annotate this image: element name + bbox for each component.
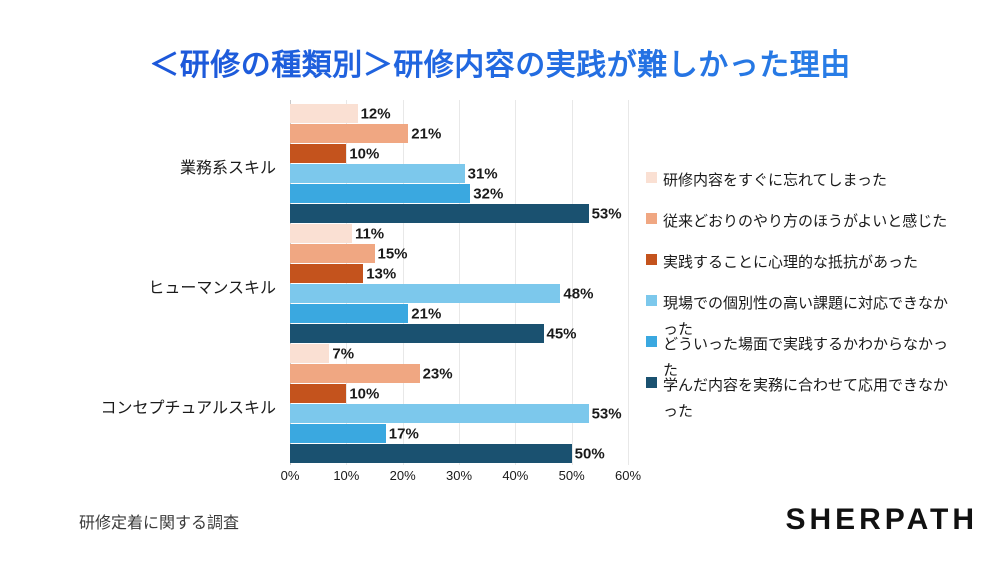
bar-value-label: 48% bbox=[560, 285, 593, 302]
bar-value-label: 23% bbox=[420, 365, 453, 382]
bar-row: 48% bbox=[290, 284, 628, 303]
footnote: 研修定着に関する調査 bbox=[79, 509, 239, 533]
bar-value-label: 13% bbox=[363, 265, 396, 282]
bar-row: 10% bbox=[290, 144, 628, 163]
bar-segment[interactable] bbox=[290, 384, 346, 403]
category-label: ヒューマンスキル bbox=[148, 274, 276, 298]
bar-value-label: 21% bbox=[408, 305, 441, 322]
brand-logo: SHERPATH bbox=[785, 503, 978, 537]
bar-value-label: 7% bbox=[329, 345, 354, 362]
x-axis-tick: 30% bbox=[446, 468, 472, 483]
bar-value-label: 45% bbox=[544, 325, 577, 342]
legend-swatch-icon bbox=[646, 213, 657, 224]
bar-value-label: 53% bbox=[589, 405, 622, 422]
bar-segment[interactable] bbox=[290, 184, 470, 203]
legend-swatch-icon bbox=[646, 336, 657, 347]
bar-segment[interactable] bbox=[290, 424, 386, 443]
bar-row: 53% bbox=[290, 204, 628, 223]
x-axis-tick: 10% bbox=[333, 468, 359, 483]
bar-segment[interactable] bbox=[290, 284, 560, 303]
bar-value-label: 21% bbox=[408, 125, 441, 142]
bar-row: 11% bbox=[290, 224, 628, 243]
gridline-60 bbox=[628, 100, 629, 465]
bar-value-label: 11% bbox=[352, 225, 384, 242]
bar-row: 12% bbox=[290, 104, 628, 123]
bar-row: 32% bbox=[290, 184, 628, 203]
legend-swatch-icon bbox=[646, 295, 657, 306]
category-label: 業務系スキル bbox=[180, 154, 276, 178]
bar-segment[interactable] bbox=[290, 144, 346, 163]
bar-row: 45% bbox=[290, 324, 628, 343]
bar-value-label: 10% bbox=[346, 385, 379, 402]
bar-value-label: 12% bbox=[358, 105, 391, 122]
bar-segment[interactable] bbox=[290, 324, 544, 343]
x-axis: 0%10%20%30%40%50%60% bbox=[290, 468, 628, 488]
legend-label: 研修内容をすぐに忘れてしまった bbox=[663, 168, 953, 194]
bar-row: 10% bbox=[290, 384, 628, 403]
bar-value-label: 10% bbox=[346, 145, 379, 162]
bar-row: 21% bbox=[290, 124, 628, 143]
bar-value-label: 31% bbox=[465, 165, 498, 182]
bar-segment[interactable] bbox=[290, 444, 572, 463]
bar-group: 11%15%13%48%21%45% bbox=[290, 224, 628, 344]
x-axis-tick: 50% bbox=[559, 468, 585, 483]
bar-segment[interactable] bbox=[290, 304, 408, 323]
chart-plot-area: 12%21%10%31%32%53%11%15%13%48%21%45%7%23… bbox=[290, 100, 628, 465]
legend-swatch-icon bbox=[646, 172, 657, 183]
bar-segment[interactable] bbox=[290, 344, 329, 363]
bar-segment[interactable] bbox=[290, 404, 589, 423]
bar-row: 7% bbox=[290, 344, 628, 363]
bar-row: 53% bbox=[290, 404, 628, 423]
bar-value-label: 17% bbox=[386, 425, 419, 442]
x-axis-tick: 20% bbox=[390, 468, 416, 483]
bar-row: 31% bbox=[290, 164, 628, 183]
bar-group: 12%21%10%31%32%53% bbox=[290, 104, 628, 224]
legend-label: 従来どおりのやり方のほうがよいと感じた bbox=[663, 209, 953, 235]
bar-value-label: 32% bbox=[470, 185, 503, 202]
legend-label: 学んだ内容を実務に合わせて応用できなかった bbox=[663, 373, 953, 425]
page-title: ＜研修の種類別＞研修内容の実践が難しかった理由 bbox=[0, 40, 1000, 84]
bar-row: 15% bbox=[290, 244, 628, 263]
bar-row: 17% bbox=[290, 424, 628, 443]
bar-segment[interactable] bbox=[290, 164, 465, 183]
legend-item[interactable]: 実践することに心理的な抵抗があった bbox=[646, 250, 986, 276]
bar-row: 23% bbox=[290, 364, 628, 383]
legend-item[interactable]: 従来どおりのやり方のほうがよいと感じた bbox=[646, 209, 986, 235]
bar-value-label: 53% bbox=[589, 205, 622, 222]
bar-segment[interactable] bbox=[290, 264, 363, 283]
legend-item[interactable]: 学んだ内容を実務に合わせて応用できなかった bbox=[646, 373, 986, 425]
bar-row: 13% bbox=[290, 264, 628, 283]
x-axis-tick: 40% bbox=[502, 468, 528, 483]
slide-canvas: ＜研修の種類別＞研修内容の実践が難しかった理由 12%21%10%31%32%5… bbox=[0, 0, 1000, 563]
bar-row: 50% bbox=[290, 444, 628, 463]
legend-swatch-icon bbox=[646, 377, 657, 388]
x-axis-tick: 0% bbox=[281, 468, 300, 483]
x-axis-tick: 60% bbox=[615, 468, 641, 483]
bar-segment[interactable] bbox=[290, 364, 420, 383]
bar-segment[interactable] bbox=[290, 104, 358, 123]
legend-item[interactable]: 研修内容をすぐに忘れてしまった bbox=[646, 168, 986, 194]
bar-segment[interactable] bbox=[290, 124, 408, 143]
bar-row: 21% bbox=[290, 304, 628, 323]
bar-segment[interactable] bbox=[290, 244, 375, 263]
bar-value-label: 50% bbox=[572, 445, 605, 462]
bar-segment[interactable] bbox=[290, 204, 589, 223]
bar-segment[interactable] bbox=[290, 224, 352, 243]
category-label: コンセプチュアルスキル bbox=[100, 394, 276, 418]
legend-swatch-icon bbox=[646, 254, 657, 265]
bar-value-label: 15% bbox=[375, 245, 408, 262]
legend-label: 実践することに心理的な抵抗があった bbox=[663, 250, 953, 276]
bar-group: 7%23%10%53%17%50% bbox=[290, 344, 628, 464]
